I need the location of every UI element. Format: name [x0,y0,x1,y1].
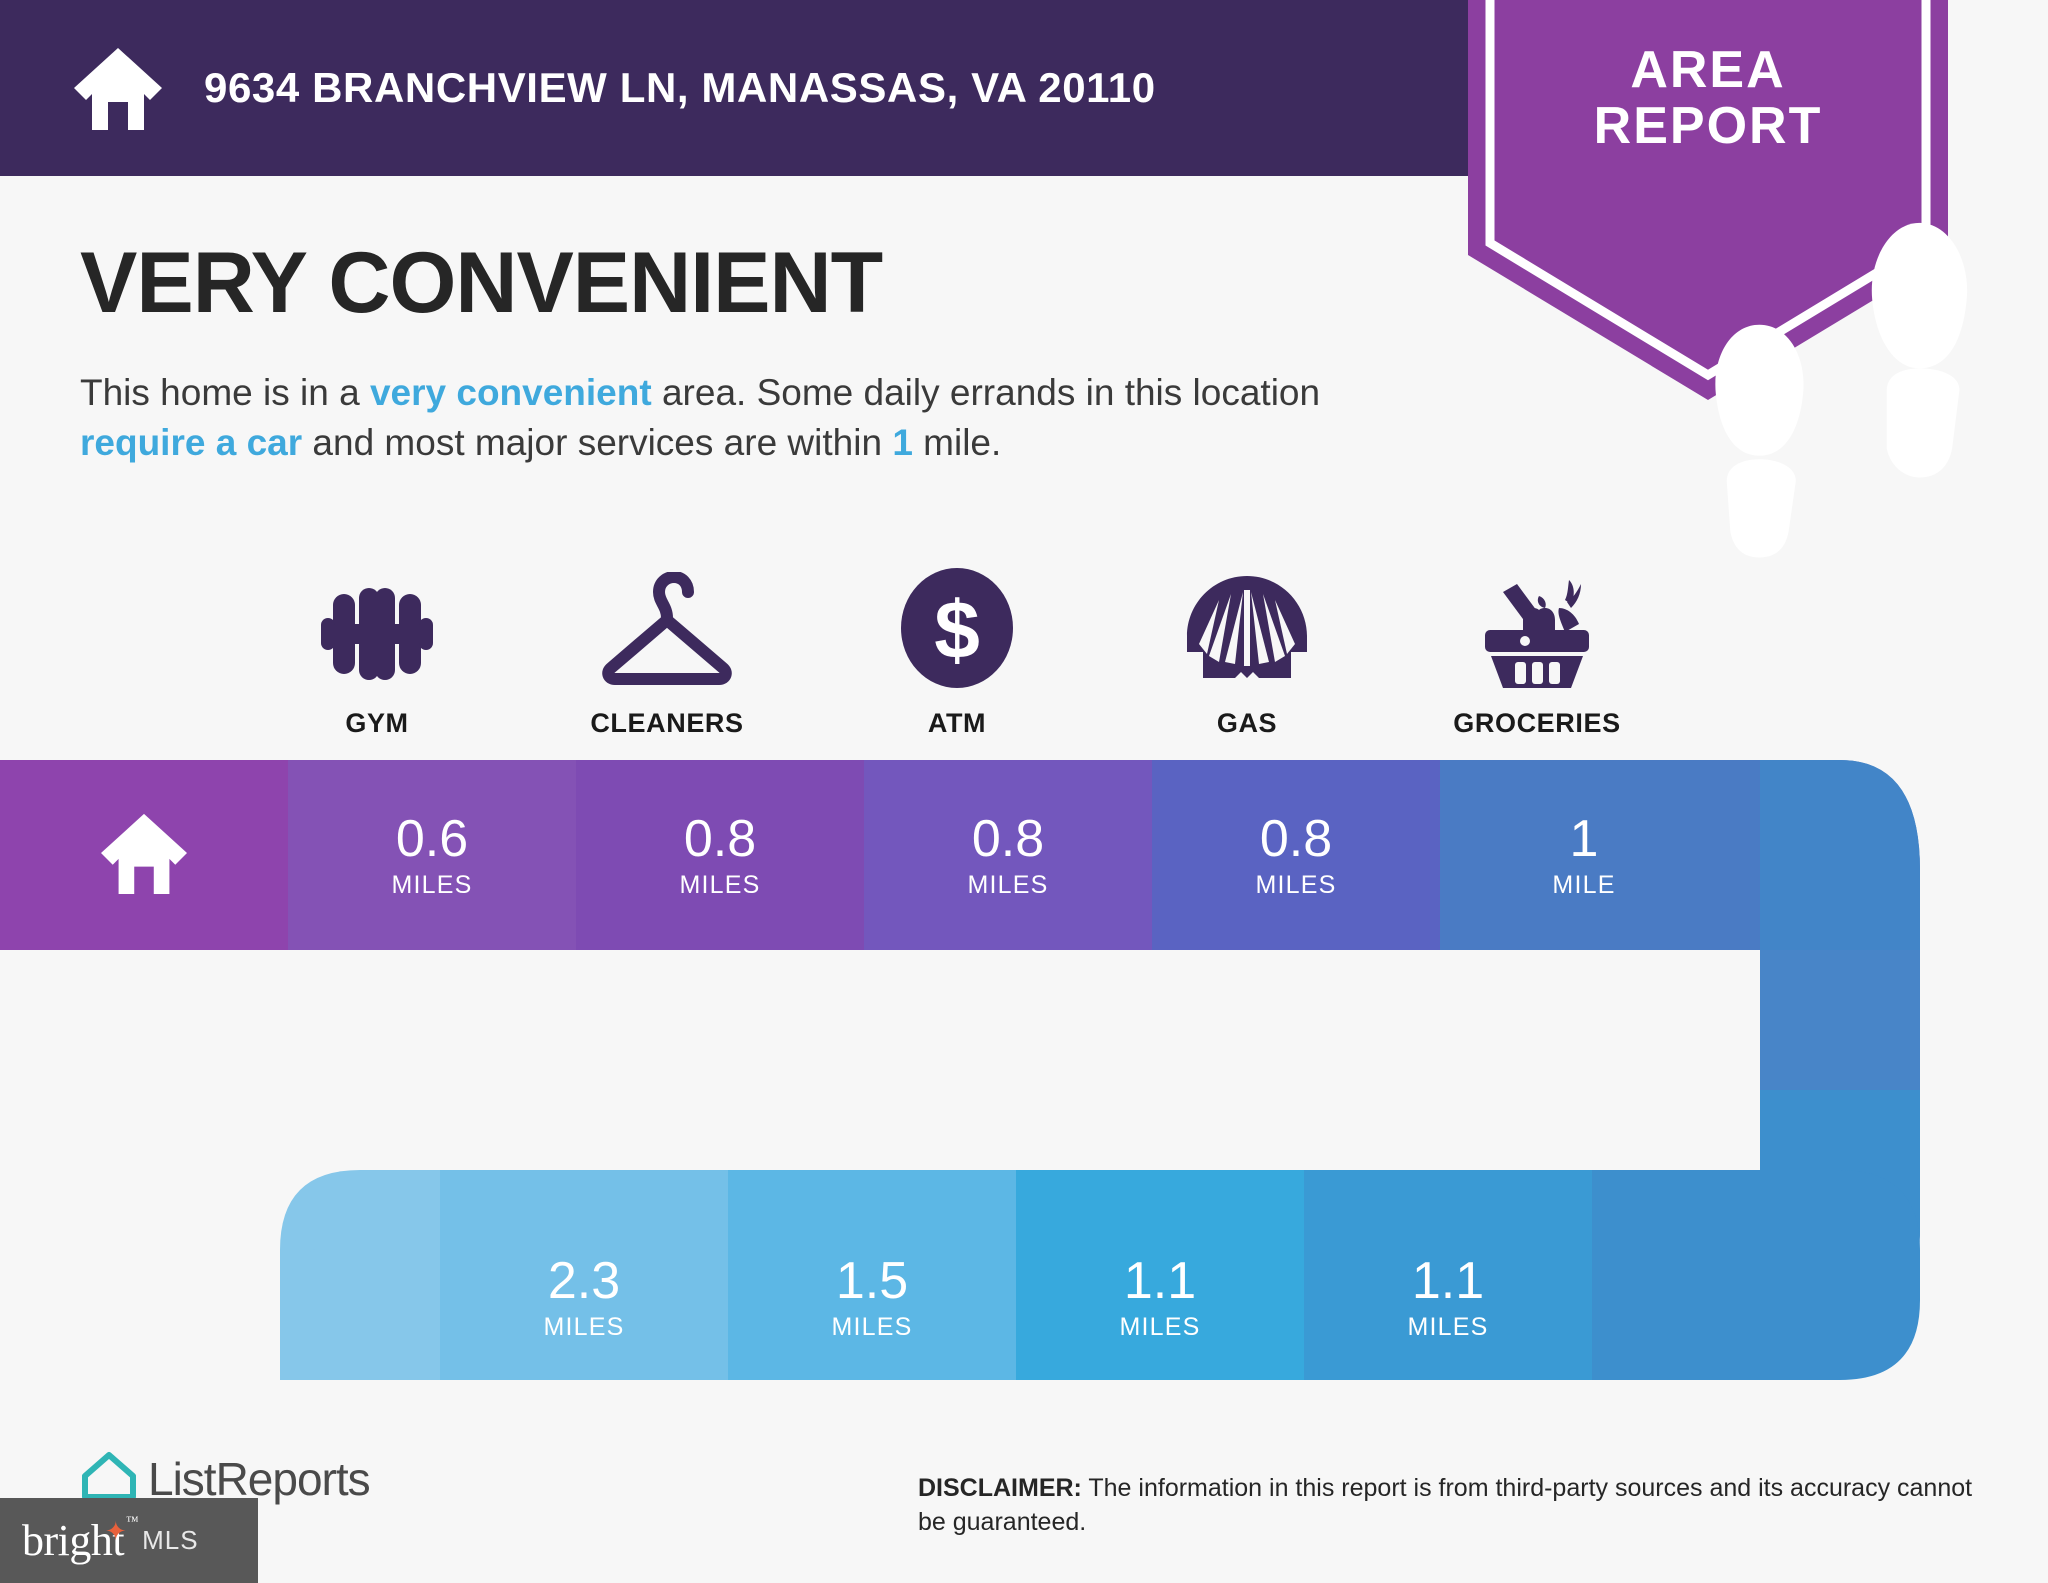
bright-wordmark: bright ✦ ™ [22,1515,124,1566]
distance-value: 0.6 [396,813,468,865]
distance-value: 1.1 [1412,1255,1484,1307]
amenity-gas: GAS [1102,560,1392,739]
mls-label: MLS [142,1525,198,1556]
distance-cell-pharmacy: 1.1 MILES [1304,1225,1592,1369]
distance-cell-coffee: 1.5 MILES [728,1225,1016,1369]
distance-cell-movie-theater: 2.3 MILES [440,1225,728,1369]
summary-part-2: area. Some daily errands in this locatio… [652,372,1320,413]
header-bar: 9634 BRANCHVIEW LN, MANASSAS, VA 20110 [0,0,1470,176]
trademark-symbol: ™ [126,1513,138,1529]
svg-text:$: $ [934,585,980,676]
distance-cell-medical: 1.1 MILES [1016,1225,1304,1369]
house-icon [72,44,164,132]
distance-cell-groceries: 1 MILE [1440,783,1728,927]
house-icon [99,810,189,901]
amenity-atm: $ ATM [812,560,1102,739]
distance-cell-atm: 0.8 MILES [864,783,1152,927]
distance-unit: MILES [831,1315,912,1340]
amenity-icon-row-top: GYM CLEANERS $ ATM [232,560,1682,739]
amenity-label: ATM [928,708,986,739]
distance-value: 0.8 [684,813,756,865]
amenity-gym: GYM [232,560,522,739]
distance-value: 0.8 [1260,813,1332,865]
amenity-label: GAS [1217,708,1277,739]
footprints-icon [1654,172,2048,572]
distance-value: 1.5 [836,1255,908,1307]
amenity-groceries: GROCERIES [1392,560,1682,739]
distance-value: 1.1 [1124,1255,1196,1307]
distance-unit: MILES [543,1315,624,1340]
dollar-circle-icon: $ [897,560,1017,690]
page-title: VERY CONVENIENT [80,240,882,326]
distance-unit: MILE [1552,873,1615,898]
distance-cell-cleaners: 0.8 MILES [576,783,864,927]
distance-cell-gym: 0.6 MILES [288,783,576,927]
summary-part-1: This home is in a [80,372,370,413]
summary-highlight-1: very convenient [370,372,652,413]
amenity-label: GYM [345,708,408,739]
summary-part-3: and most major services are within [302,422,892,463]
distance-value: 0.8 [972,813,1044,865]
amenity-label: CLEANERS [590,708,743,739]
distance-unit: MILES [967,873,1048,898]
distance-unit: MILES [1407,1315,1488,1340]
summary-highlight-3: 1 [892,422,913,463]
amenity-label: GROCERIES [1453,708,1620,739]
spark-icon: ✦ [105,1517,126,1547]
dumbbell-icon [307,560,447,690]
summary-highlight-2: require a car [80,422,302,463]
property-address: 9634 BRANCHVIEW LN, MANASSAS, VA 20110 [204,64,1156,112]
distance-unit: MILES [391,873,472,898]
hanger-icon [597,560,737,690]
bright-mls-watermark: bright ✦ ™ MLS [0,1498,258,1583]
grocery-basket-icon [1469,560,1605,690]
summary-part-4: mile. [913,422,1001,463]
disclaimer-label: DISCLAIMER: [918,1474,1082,1502]
distance-unit: MILES [1255,873,1336,898]
amenity-cleaners: CLEANERS [522,560,812,739]
distance-unit: MILES [679,873,760,898]
summary-paragraph: This home is in a very convenient area. … [80,368,1440,467]
area-report-badge: AREA REPORT [1468,0,1948,400]
badge-title-line2: REPORT [1468,100,1948,152]
shell-icon [1185,560,1309,690]
disclaimer: DISCLAIMER: The information in this repo… [918,1472,1988,1539]
home-marker-cell [0,783,288,927]
badge-title-line1: AREA [1468,44,1948,96]
distance-value: 2.3 [548,1255,620,1307]
distance-value: 1 [1570,813,1599,865]
distance-unit: MILES [1119,1315,1200,1340]
distance-cell-gas: 0.8 MILES [1152,783,1440,927]
